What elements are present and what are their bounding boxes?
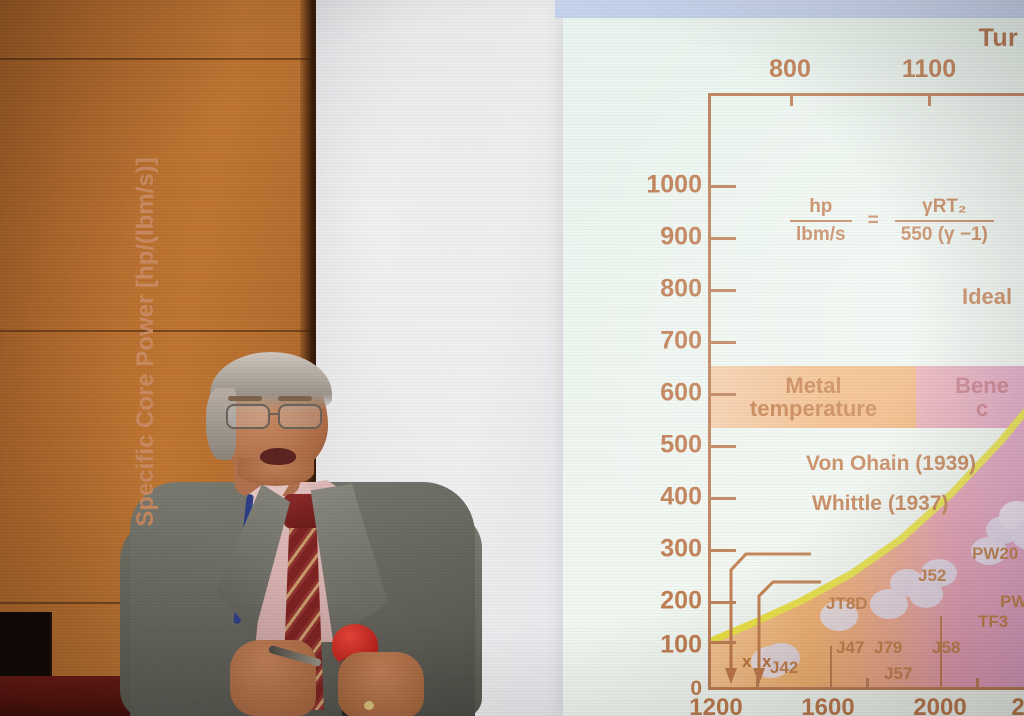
- y-tick: [708, 289, 736, 292]
- wall-seam: [0, 58, 318, 60]
- engine-label-j52: J52: [918, 566, 946, 586]
- y-tick-label: 0: [626, 677, 702, 701]
- x-mark: x: [762, 652, 771, 672]
- engine-label-pw: PW: [1000, 592, 1024, 612]
- y-tick: [708, 497, 736, 500]
- y-tick: [708, 185, 736, 188]
- engine-label-j47: J47: [836, 638, 864, 658]
- y-tick-label: 200: [626, 587, 702, 616]
- y-tick-label: 900: [626, 223, 702, 252]
- x-bottom-tick: [756, 678, 759, 690]
- ideal-label: Ideal: [962, 284, 1012, 310]
- formula-lhs-numerator: hp: [803, 196, 838, 220]
- speaker: [120, 352, 480, 716]
- slide-title: Tur: [979, 24, 1018, 53]
- eyeglass-lens: [226, 404, 270, 429]
- x-top-tick: [928, 93, 931, 106]
- engine-label-tf30: TF3: [978, 612, 1008, 632]
- x-top-tick-label: 800: [769, 55, 811, 84]
- y-tick-label: 300: [626, 535, 702, 564]
- formula-rhs-denominator: 550 (γ −1): [895, 220, 994, 246]
- formula-lhs: hp lbm/s: [790, 196, 852, 246]
- y-tick-label: 1000: [626, 171, 702, 200]
- formula-equals: =: [868, 210, 879, 232]
- speaker-eyebrow: [228, 396, 262, 401]
- eyeglass-lens: [278, 404, 322, 429]
- y-tick: [708, 549, 736, 552]
- speaker-mouth: [260, 448, 296, 465]
- y-tick-label: 800: [626, 275, 702, 304]
- x-bottom-tick-label: 1600: [801, 694, 854, 716]
- engine-label-j57: J57: [884, 664, 912, 684]
- slide-top-band: [555, 0, 1024, 18]
- y-tick-label: 500: [626, 431, 702, 460]
- y-tick-label: 700: [626, 327, 702, 356]
- y-tick: [708, 341, 736, 344]
- y-tick-label: 600: [626, 379, 702, 408]
- x-bottom-tick-label: 2: [1011, 694, 1024, 716]
- x-top-tick-label: 1100: [902, 55, 956, 84]
- y-tick: [708, 393, 736, 396]
- formula-lhs-denominator: lbm/s: [790, 220, 852, 246]
- x-bottom-tick-label: 2000: [913, 694, 966, 716]
- y-tick: [708, 237, 736, 240]
- y-tick-label: 400: [626, 483, 702, 512]
- engine-label-j79: J79: [874, 638, 902, 658]
- eyeglasses-icon: [224, 404, 332, 430]
- y-tick: [708, 445, 736, 448]
- annotation-whittle: Whittle (1937): [812, 492, 949, 516]
- y-tick: [708, 641, 736, 644]
- engine-label-pw20: PW20: [972, 544, 1018, 564]
- x-bottom-tick: [976, 678, 979, 690]
- speaker-eyebrow: [278, 396, 312, 401]
- y-tick: [708, 601, 736, 604]
- engine-label-jt8d: JT8D: [826, 594, 868, 614]
- annotation-von-ohain: Von Ohain (1939): [806, 452, 976, 476]
- engine-label-j58: J58: [932, 638, 960, 658]
- wedding-ring: [364, 701, 374, 710]
- x-mark: x: [742, 652, 751, 672]
- formula-rhs: γRT₂ 550 (γ −1): [895, 196, 994, 246]
- presentation-photo: Tur Metal temperature Bene c: [0, 0, 1024, 716]
- x-bottom-tick: [866, 678, 869, 690]
- engine-label-j42: J42: [770, 658, 798, 678]
- formula-rhs-numerator: γRT₂: [916, 196, 972, 220]
- specific-power-formula: hp lbm/s = γRT₂ 550 (γ −1): [790, 196, 994, 246]
- x-top-tick: [790, 93, 793, 106]
- speaker-right-hand: [338, 652, 424, 716]
- y-tick-label: 100: [626, 631, 702, 660]
- y-axis-title: Specific Core Power [hp/(lbm/s)]: [132, 132, 160, 552]
